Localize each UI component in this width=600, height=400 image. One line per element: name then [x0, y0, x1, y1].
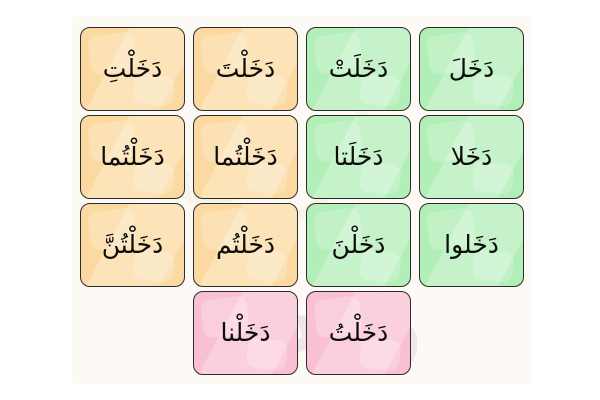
conjugation-cell[interactable]: دَخَلَتْ: [306, 27, 411, 111]
conjugation-word: دَخَلَتا: [333, 140, 383, 174]
conjugation-cell[interactable]: دَخَلْنَ: [306, 203, 411, 287]
conjugation-word: دَخَلْتِ: [103, 52, 162, 86]
conjugation-cell[interactable]: دَخَلْتُما: [193, 115, 298, 199]
conjugation-cell[interactable]: دَخَلوا: [419, 203, 524, 287]
conjugation-word: دَخَلْتُ: [329, 316, 388, 350]
conjugation-cell[interactable]: دَخَلْنا: [193, 291, 298, 375]
conjugation-cell[interactable]: دَخَلْتَ: [193, 27, 298, 111]
conjugation-grid: دَخَلَدَخَلَتْدَخَلْتَدَخَلْتِدَخَلادَخَ…: [80, 27, 524, 377]
conjugation-cell[interactable]: دَخَلْتُنَّ: [80, 203, 185, 287]
conjugation-cell-empty: [80, 291, 185, 375]
conjugation-cell[interactable]: دَخَلا: [419, 115, 524, 199]
conjugation-word: دَخَلْنا: [220, 316, 270, 350]
conjugation-word: دَخَلْتُما: [213, 140, 277, 174]
conjugation-word: دَخَلْتُم: [216, 228, 275, 262]
conjugation-cell[interactable]: دَخَلَ: [419, 27, 524, 111]
conjugation-word: دَخَلا: [451, 140, 493, 174]
conjugation-word: دَخَلْتَ: [216, 52, 275, 86]
conjugation-cell[interactable]: دَخَلْتُ: [306, 291, 411, 375]
conjugation-word: دَخَلْنَ: [332, 228, 386, 262]
conjugation-word: دَخَلَ: [449, 52, 495, 86]
conjugation-word: دَخَلوا: [444, 228, 499, 262]
conjugation-cell-empty: [419, 291, 524, 375]
conjugation-table-canvas: لرب ورد دَخَلَدَخَلَتْدَخَلْتَدَخَلْتِدَ…: [0, 0, 600, 400]
conjugation-cell[interactable]: دَخَلْتُما: [80, 115, 185, 199]
conjugation-cell[interactable]: دَخَلْتِ: [80, 27, 185, 111]
conjugation-cell[interactable]: دَخَلَتا: [306, 115, 411, 199]
conjugation-cell[interactable]: دَخَلْتُم: [193, 203, 298, 287]
conjugation-word: دَخَلْتُنَّ: [102, 228, 163, 262]
conjugation-word: دَخَلْتُما: [100, 140, 164, 174]
conjugation-word: دَخَلَتْ: [329, 52, 388, 86]
